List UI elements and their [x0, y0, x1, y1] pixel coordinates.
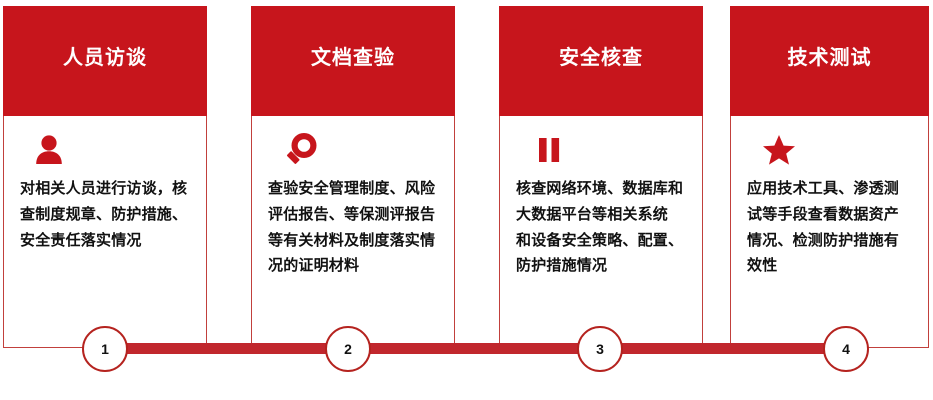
step-card-1-icon-wrap	[18, 116, 192, 176]
process-diagram: 人员访谈 对相关人员进行访谈，核查制度规章、防护措施、 安全责任落实情况 文档查…	[0, 0, 933, 400]
step-card-1-description: 对相关人员进行访谈，核查制度规章、防护措施、 安全责任落实情况	[18, 176, 192, 253]
step-node-1[interactable]: 1	[82, 326, 128, 372]
step-card-4[interactable]: 技术测试 应用技术工具、渗透测试等手段查看数据资产情况、检测防护措施有效性	[730, 6, 929, 348]
step-card-4-body: 应用技术工具、渗透测试等手段查看数据资产情况、检测防护措施有效性	[730, 116, 929, 348]
step-card-4-icon-wrap	[745, 116, 914, 176]
step-card-2-body: 查验安全管理制度、风险评估报告、等保测评报告等有关材料及制度落实情况的证明材料	[251, 116, 455, 348]
step-card-4-description: 应用技术工具、渗透测试等手段查看数据资产情况、检测防护措施有效性	[745, 176, 914, 279]
step-card-2-header: 文档查验	[251, 6, 455, 116]
step-card-1-body: 对相关人员进行访谈，核查制度规章、防护措施、 安全责任落实情况	[3, 116, 207, 348]
step-node-1-label: 1	[101, 341, 109, 357]
step-node-3-label: 3	[596, 341, 604, 357]
step-card-3[interactable]: 安全核查 核查网络环境、数据库和大数据平台等相关系统 和设备安全策略、配置、防护…	[499, 6, 703, 348]
step-card-3-title: 安全核查	[559, 46, 643, 70]
step-card-2-title: 文档查验	[311, 46, 395, 70]
step-card-3-header: 安全核查	[499, 6, 703, 116]
person-icon	[32, 132, 66, 166]
step-card-2-description: 查验安全管理制度、风险评估报告、等保测评报告等有关材料及制度落实情况的证明材料	[266, 176, 440, 279]
step-card-1-title: 人员访谈	[63, 46, 147, 70]
step-node-2[interactable]: 2	[325, 326, 371, 372]
step-card-4-header: 技术测试	[730, 6, 929, 116]
step-card-1[interactable]: 人员访谈 对相关人员进行访谈，核查制度规章、防护措施、 安全责任落实情况	[3, 6, 207, 348]
step-card-2-icon-wrap	[266, 116, 440, 176]
step-card-3-icon-wrap	[514, 116, 688, 176]
star-icon	[761, 132, 797, 166]
step-node-3[interactable]: 3	[577, 326, 623, 372]
magnifier-icon	[284, 132, 318, 166]
pause-bars-icon	[532, 132, 566, 166]
step-card-1-header: 人员访谈	[3, 6, 207, 116]
step-card-3-description: 核查网络环境、数据库和大数据平台等相关系统 和设备安全策略、配置、防护措施情况	[514, 176, 688, 279]
step-card-3-body: 核查网络环境、数据库和大数据平台等相关系统 和设备安全策略、配置、防护措施情况	[499, 116, 703, 348]
step-card-2[interactable]: 文档查验 查验安全管理制度、风险评估报告、等保测评报告等有关材料及制度落实情况的…	[251, 6, 455, 348]
step-card-4-title: 技术测试	[788, 46, 872, 70]
step-node-4[interactable]: 4	[823, 326, 869, 372]
timeline-connector	[104, 343, 846, 354]
step-node-4-label: 4	[842, 341, 850, 357]
step-node-2-label: 2	[344, 341, 352, 357]
